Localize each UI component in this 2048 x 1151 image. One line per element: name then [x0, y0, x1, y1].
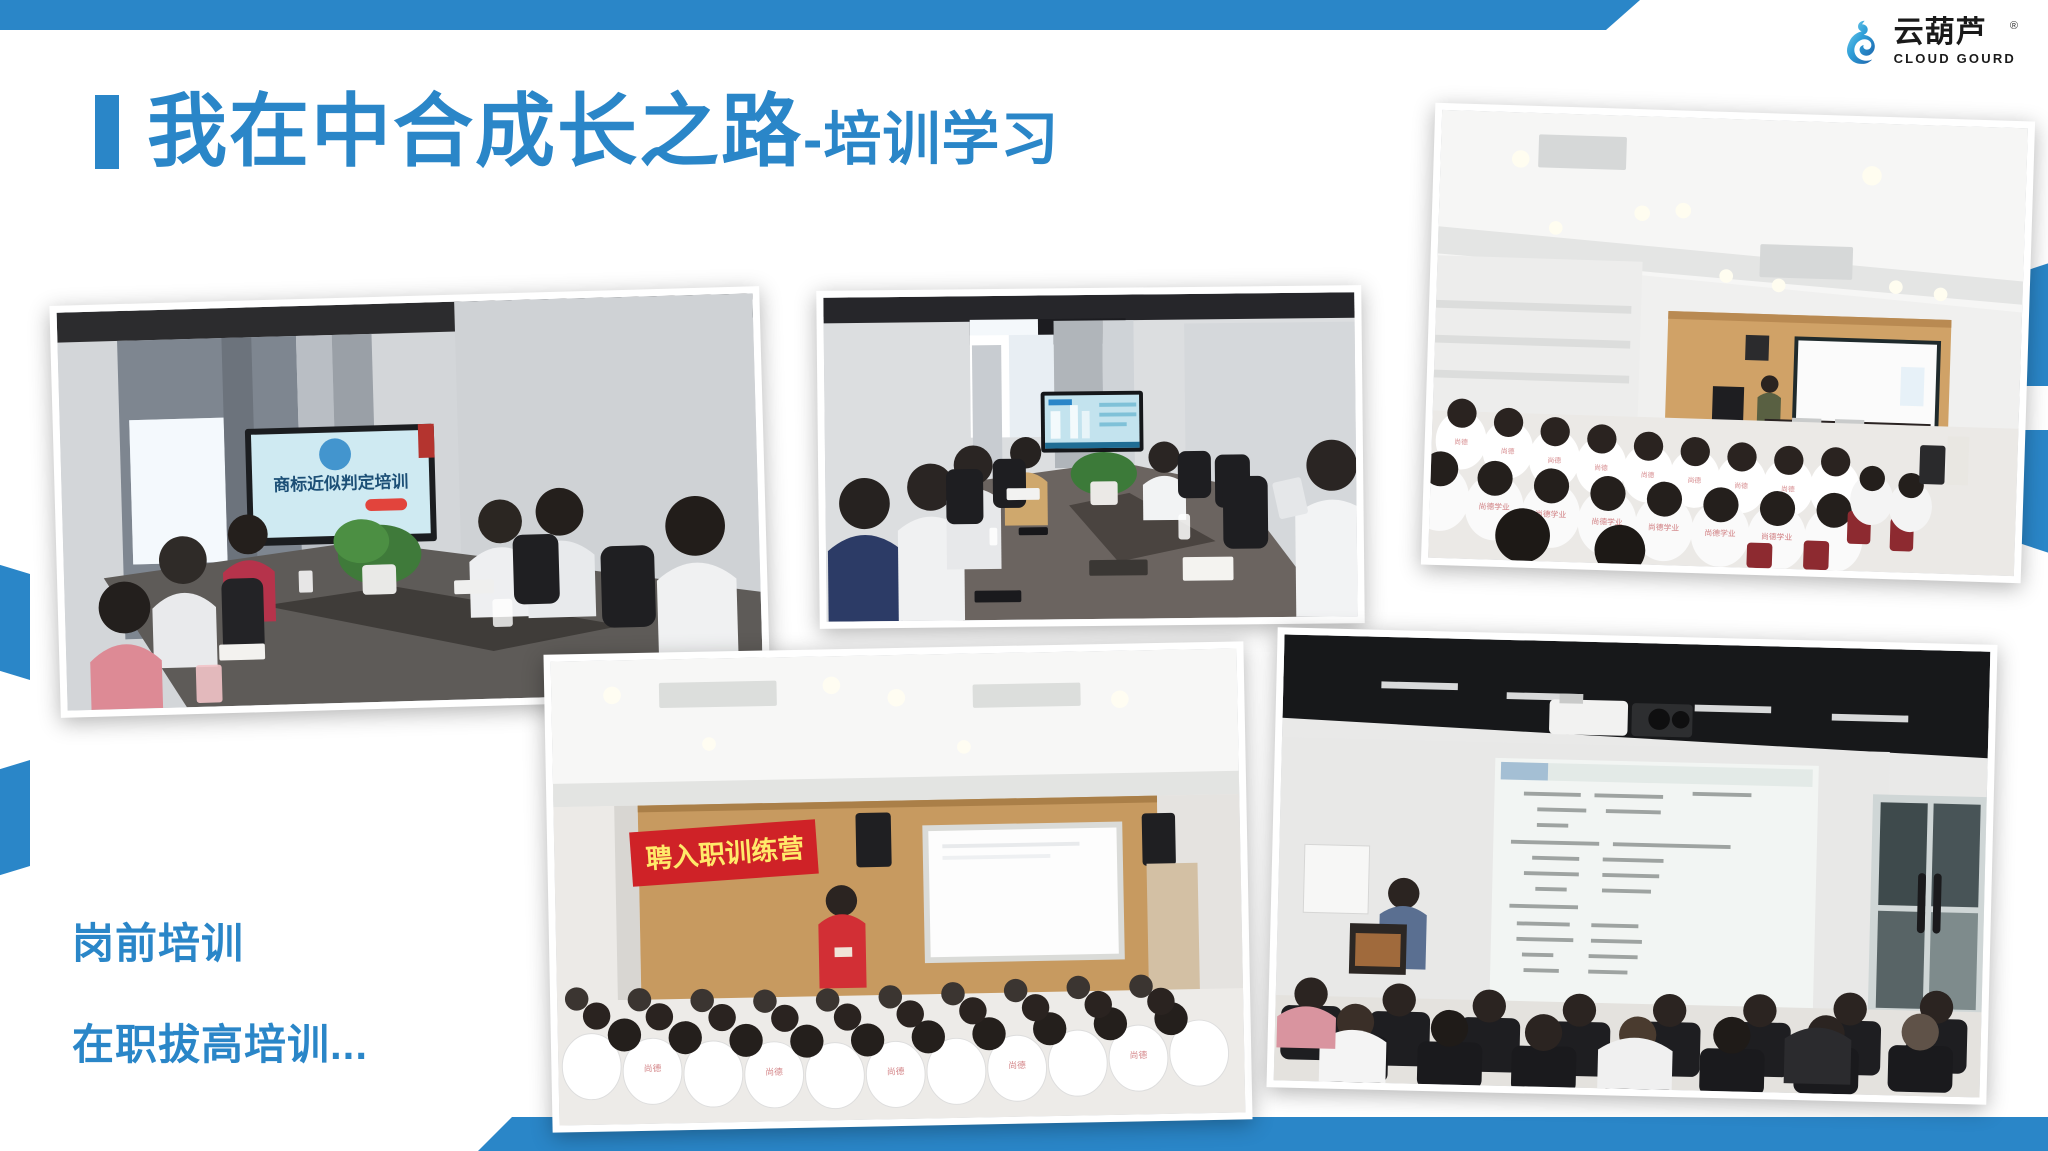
title-suffix-text: -培训学习: [803, 107, 1059, 172]
title-accent-bar: [95, 95, 119, 169]
svg-text:尚德: 尚德: [1594, 463, 1608, 472]
photo-auditorium-white: 尚德尚德 尚德尚德 尚德尚德 尚德尚德: [1421, 103, 2035, 584]
photo-classroom-projector-image: [1274, 634, 1991, 1097]
cloud-gourd-swirl-icon: [1840, 19, 1884, 65]
top-blue-bar: [0, 0, 1640, 30]
svg-text:尚德: 尚德: [1734, 481, 1748, 490]
svg-text:尚德: 尚德: [1687, 475, 1701, 484]
title-text-wrapper: 我在中合成长之路-培训学习: [147, 92, 1059, 172]
svg-text:尚德: 尚德: [887, 1065, 905, 1077]
svg-text:尚德: 尚德: [1008, 1059, 1026, 1071]
svg-text:尚德: 尚德: [1547, 456, 1561, 465]
svg-text:商标近似判定培训: 商标近似判定培训: [273, 471, 409, 495]
brand-logo: 云葫芦 CLOUD GOURD ®: [1840, 18, 2016, 65]
photo-meeting-dashboard-image: [823, 292, 1357, 622]
logo-english-name: CLOUD GOURD: [1894, 52, 2016, 65]
logo-chinese-name: 云葫芦: [1894, 18, 2016, 48]
caption-on-job-training: 在职拔高培训...: [72, 1011, 368, 1072]
slide-canvas: 云葫芦 CLOUD GOURD ® 我在中合成长之路-培训学习 岗前培训 在职拔…: [0, 0, 2048, 1151]
photo-classroom-projector: [1266, 627, 1997, 1104]
left-chevron-2-icon: [0, 760, 30, 880]
svg-text:尚德学业: 尚德学业: [1648, 522, 1680, 533]
svg-text:尚德: 尚德: [1641, 470, 1655, 479]
left-chevron-1-icon: [0, 560, 30, 680]
svg-text:尚德学业: 尚德学业: [1704, 527, 1736, 538]
photo-training-camp-image: 聘入职训练营: [551, 648, 1246, 1125]
logo-wordmark: 云葫芦 CLOUD GOURD: [1894, 18, 2016, 65]
caption-pre-job-training: 岗前培训: [72, 910, 368, 971]
svg-text:尚德学业: 尚德学业: [1761, 531, 1793, 542]
svg-text:尚德: 尚德: [765, 1066, 783, 1078]
title-main-text: 我在中合成长之路: [147, 87, 803, 176]
svg-text:尚德: 尚德: [1501, 446, 1515, 455]
photo-training-camp: 聘入职训练营: [543, 641, 1252, 1132]
caption-list: 岗前培训 在职拔高培训...: [72, 910, 368, 1072]
page-title: 我在中合成长之路-培训学习: [95, 92, 1059, 172]
photo-meeting-trademark-image: 商标近似判定培训: [57, 293, 764, 710]
photo-auditorium-white-image: 尚德尚德 尚德尚德 尚德尚德 尚德尚德: [1428, 110, 2028, 576]
svg-text:尚德: 尚德: [1454, 437, 1468, 446]
svg-text:尚德: 尚德: [1130, 1049, 1148, 1061]
registered-trademark-icon: ®: [2010, 20, 2018, 32]
photo-meeting-dashboard: [816, 285, 1365, 629]
svg-text:尚德: 尚德: [644, 1062, 662, 1074]
svg-text:尚德学业: 尚德学业: [1478, 501, 1510, 512]
